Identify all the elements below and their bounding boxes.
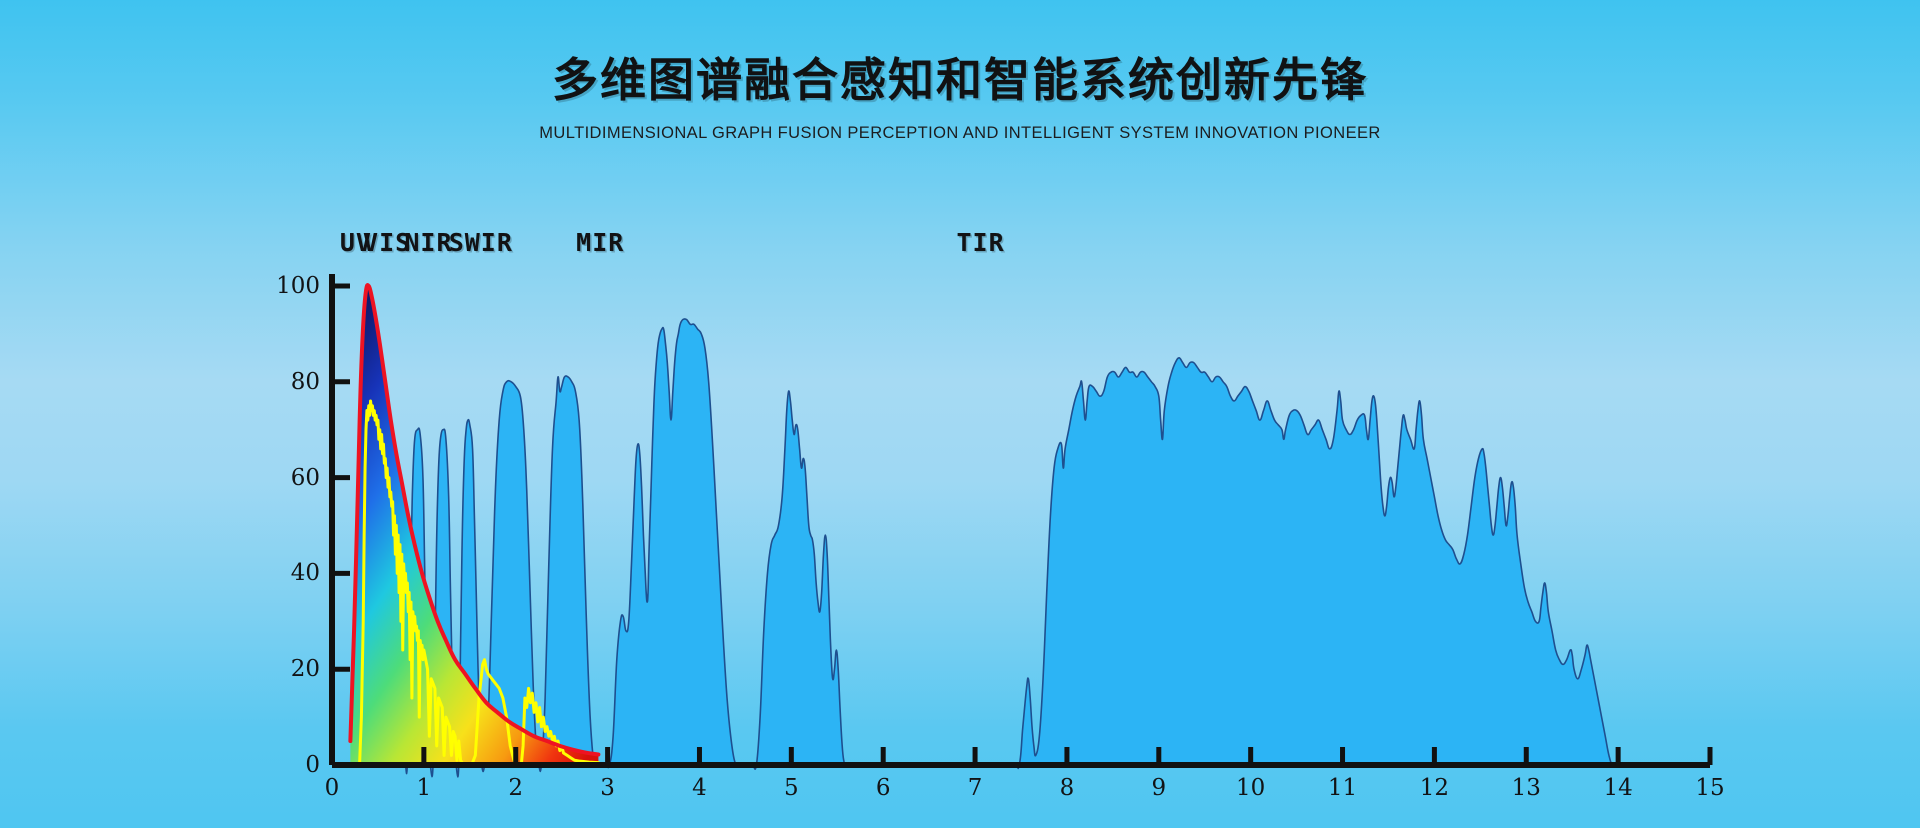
x-tick-label: 7 (968, 775, 983, 801)
x-tick-label: 1 (417, 775, 432, 801)
x-tick-label: 5 (784, 775, 799, 801)
x-tick-label: 3 (600, 775, 615, 801)
x-tick-label: 6 (876, 775, 891, 801)
band-label-mir: MIR (576, 228, 624, 257)
spectrum-chart: UVVISNIRSWIRMIRTIR 012345678910111213141… (0, 0, 1920, 828)
x-tick-label: 9 (1151, 775, 1166, 801)
x-tick-label: 10 (1236, 775, 1265, 801)
transmission-area (358, 319, 1618, 777)
x-tick-label: 12 (1420, 775, 1449, 801)
y-tick-label: 0 (0, 752, 320, 778)
x-tick-label: 14 (1603, 775, 1632, 801)
y-tick-label: 60 (0, 465, 320, 491)
chart-canvas (0, 0, 1920, 828)
x-tick-label: 13 (1512, 775, 1541, 801)
band-label-swir: SWIR (449, 228, 513, 257)
x-tick-label: 2 (508, 775, 523, 801)
x-tick-label: 8 (1060, 775, 1075, 801)
band-label-nir: NIR (404, 228, 452, 257)
y-tick-label: 100 (0, 273, 320, 299)
x-tick-label: 0 (325, 775, 340, 801)
y-tick-label: 80 (0, 369, 320, 395)
x-tick-label: 4 (692, 775, 707, 801)
x-tick-label: 15 (1695, 775, 1724, 801)
y-tick-label: 20 (0, 656, 320, 682)
band-label-tir: TIR (957, 228, 1005, 257)
y-tick-label: 40 (0, 560, 320, 586)
spectral-chart-page: 多维图谱融合感知和智能系统创新先锋 MULTIDIMENSIONAL GRAPH… (0, 0, 1920, 828)
x-tick-label: 11 (1328, 775, 1357, 801)
